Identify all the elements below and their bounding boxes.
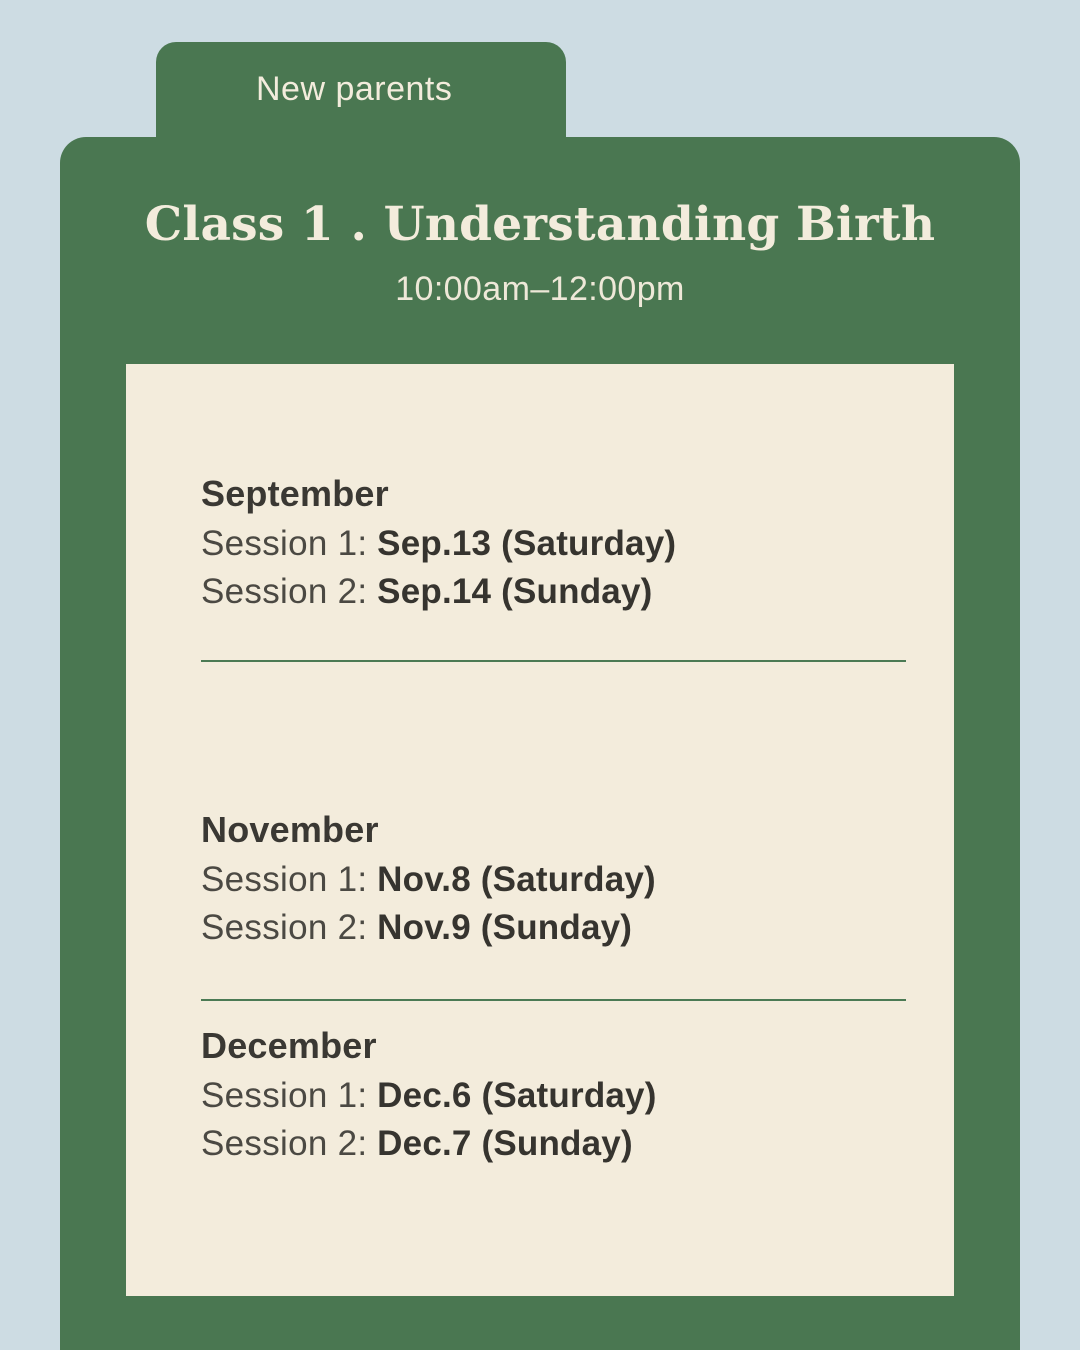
session-row: Session 2: Dec.7 (Sunday) bbox=[201, 1120, 901, 1168]
session-label: Session 2: bbox=[201, 908, 367, 947]
session-row: Session 1: Nov.8 (Saturday) bbox=[201, 856, 901, 904]
month-block-december: December Session 1: Dec.6 (Saturday) Ses… bbox=[201, 1026, 901, 1168]
session-row: Session 2: Nov.9 (Sunday) bbox=[201, 904, 901, 952]
page-title: Class 1 . Understanding Birth bbox=[60, 197, 1020, 252]
poster-root: New parents Class 1 . Understanding Birt… bbox=[0, 0, 1080, 1350]
session-row: Session 1: Sep.13 (Saturday) bbox=[201, 520, 901, 568]
session-row: Session 1: Dec.6 (Saturday) bbox=[201, 1072, 901, 1120]
session-label: Session 1: bbox=[201, 524, 367, 563]
month-block-november: November Session 1: Nov.8 (Saturday) Ses… bbox=[201, 810, 901, 952]
month-block-september: September Session 1: Sep.13 (Saturday) S… bbox=[201, 474, 901, 616]
session-date: Nov.9 (Sunday) bbox=[377, 908, 632, 947]
section-divider bbox=[201, 660, 906, 662]
month-heading: November bbox=[201, 810, 901, 850]
session-date: Dec.7 (Sunday) bbox=[377, 1124, 633, 1163]
session-row: Session 2: Sep.14 (Sunday) bbox=[201, 568, 901, 616]
category-tab-label: New parents bbox=[256, 70, 452, 109]
session-date: Nov.8 (Saturday) bbox=[377, 860, 656, 899]
session-label: Session 1: bbox=[201, 860, 367, 899]
class-time: 10:00am–12:00pm bbox=[60, 270, 1020, 309]
session-date: Sep.14 (Sunday) bbox=[377, 572, 652, 611]
class-card: Class 1 . Understanding Birth 10:00am–12… bbox=[60, 137, 1020, 1350]
session-date: Dec.6 (Saturday) bbox=[377, 1076, 656, 1115]
category-tab[interactable]: New parents bbox=[156, 42, 566, 152]
section-divider bbox=[201, 999, 906, 1001]
schedule-panel: September Session 1: Sep.13 (Saturday) S… bbox=[126, 364, 954, 1296]
session-date: Sep.13 (Saturday) bbox=[377, 524, 676, 563]
month-heading: December bbox=[201, 1026, 901, 1066]
session-label: Session 1: bbox=[201, 1076, 367, 1115]
month-heading: September bbox=[201, 474, 901, 514]
session-label: Session 2: bbox=[201, 1124, 367, 1163]
session-label: Session 2: bbox=[201, 572, 367, 611]
